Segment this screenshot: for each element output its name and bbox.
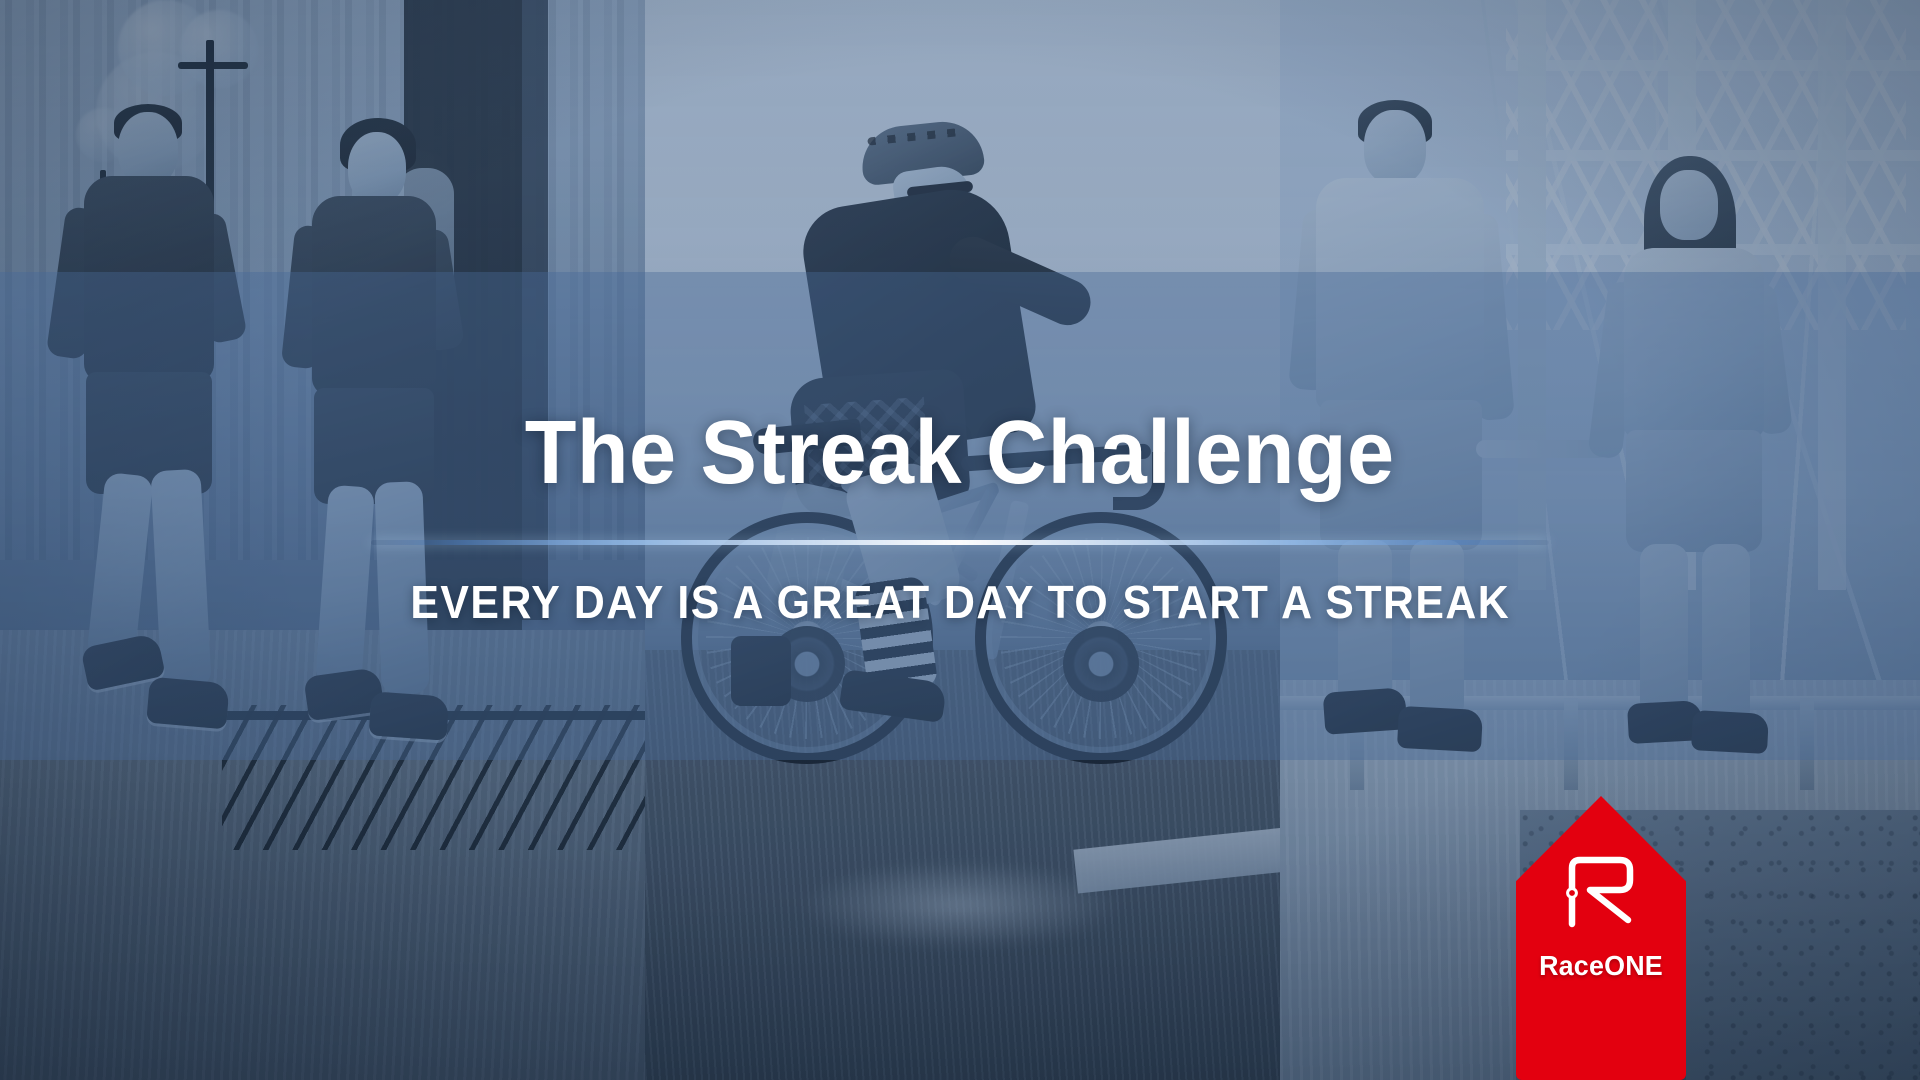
page-title: The Streak Challenge bbox=[525, 408, 1395, 498]
title-divider-rule bbox=[371, 540, 1549, 545]
streak-challenge-hero-banner: The Streak Challenge EVERY DAY IS A GREA… bbox=[0, 0, 1920, 1080]
raceone-r-mark-icon bbox=[1560, 850, 1642, 930]
hero-text-block: The Streak Challenge EVERY DAY IS A GREA… bbox=[0, 272, 1920, 760]
raceone-wordmark: RaceONE bbox=[1519, 950, 1682, 982]
page-subtitle: EVERY DAY IS A GREAT DAY TO START A STRE… bbox=[410, 579, 1510, 625]
